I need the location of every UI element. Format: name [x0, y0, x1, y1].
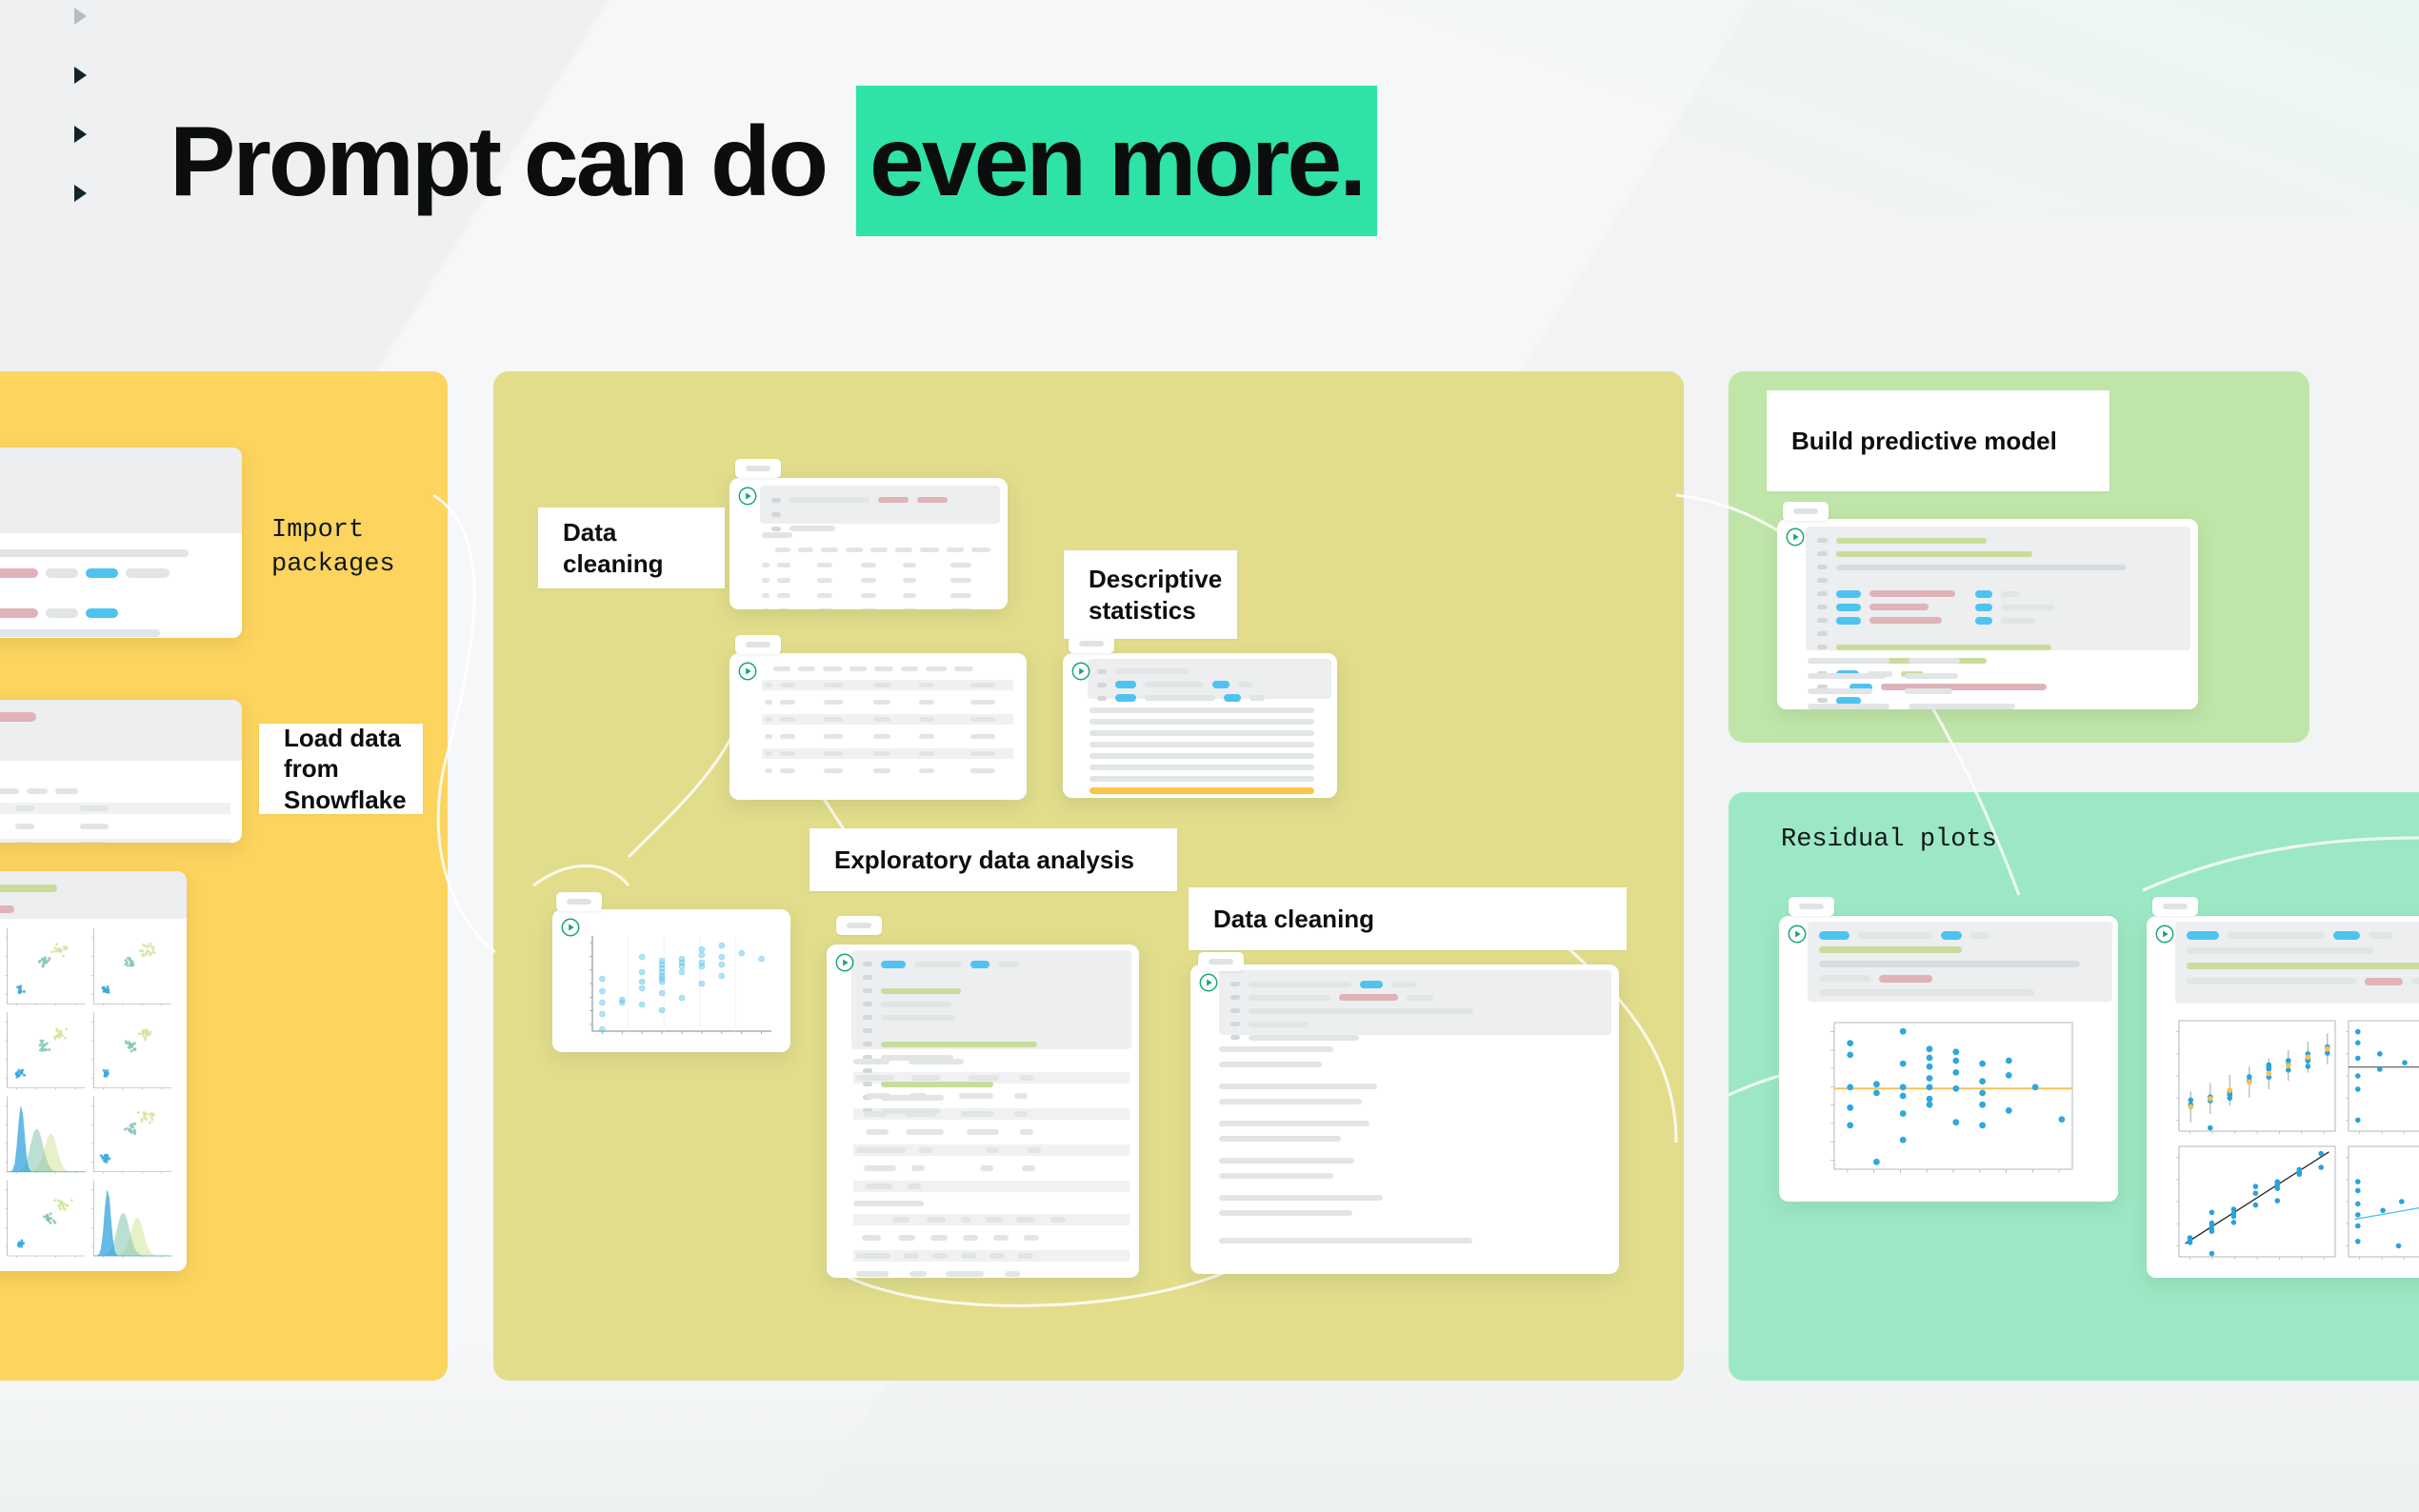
note-exploratory-data-analysis[interactable]: Exploratory data analysis: [810, 828, 1177, 891]
output-line: [1090, 718, 1326, 726]
code-line: [863, 973, 1120, 982]
code-line: [771, 495, 989, 505]
card-residual-scatter[interactable]: [1779, 916, 2118, 1202]
code-line: [1230, 1006, 1600, 1015]
output-line: [1219, 1044, 1608, 1053]
code-line: [863, 960, 1120, 968]
table-row: [853, 1214, 1130, 1225]
code-block: [760, 486, 1000, 524]
output-line: [1090, 741, 1326, 748]
page-title-highlight: even more.: [856, 86, 1377, 236]
table-row: [762, 714, 1013, 725]
code-line: [0, 480, 229, 495]
code-line: [0, 730, 229, 746]
note-label: Descriptive statistics: [1089, 564, 1222, 626]
play-circle-icon[interactable]: [1787, 924, 1808, 945]
note-data-cleaning-2[interactable]: Data cleaning: [1189, 887, 1627, 950]
triangle-right-icon: [74, 8, 87, 25]
output-line: [0, 567, 225, 580]
output-line: [1219, 1208, 1608, 1217]
table-header-row: [0, 786, 230, 796]
residual-chart: [1779, 1002, 2118, 1192]
table-output: [730, 653, 1027, 792]
table-header-row: [762, 546, 996, 554]
code-line: [863, 1013, 1120, 1022]
output-line: [1219, 1171, 1608, 1180]
code-line: [1817, 549, 2179, 558]
code-line: [0, 501, 229, 516]
table-row: [762, 748, 1013, 759]
code-line: [2187, 931, 2419, 940]
output-line: [1090, 752, 1326, 760]
code-line: [1817, 576, 2179, 585]
code-block: [0, 448, 242, 533]
note-descriptive-statistics[interactable]: Descriptive statistics: [1064, 550, 1237, 639]
output-line: [1219, 1097, 1608, 1105]
page-title-plain: Prompt can do: [170, 107, 850, 217]
code-line: [1230, 1020, 1600, 1028]
output-line: [0, 607, 225, 620]
code-line: [1819, 945, 2101, 954]
bullet-marker-column: [74, 8, 103, 244]
play-circle-icon[interactable]: [560, 917, 581, 938]
code-line: [1097, 666, 1322, 676]
table-row: [762, 731, 1013, 742]
output-line: [1808, 656, 2189, 665]
play-circle-icon[interactable]: [1198, 972, 1219, 993]
code-line: [1097, 680, 1322, 689]
code-line: [1819, 931, 2101, 940]
output-line-highlighted: [1090, 786, 1326, 794]
code-line: [2187, 977, 2419, 985]
code-line: [1230, 980, 1600, 988]
card-cleaning-table-1[interactable]: [730, 478, 1008, 609]
table-row: [0, 839, 230, 843]
code-block: [0, 871, 187, 919]
card-pairplot[interactable]: [0, 871, 187, 1271]
card-tab[interactable]: [735, 459, 781, 478]
card-tab[interactable]: [556, 892, 602, 911]
code-line: [0, 902, 173, 917]
card-scatter-plot[interactable]: [552, 909, 790, 1052]
code-line: [863, 1040, 1120, 1048]
pairplot-chart: [0, 919, 187, 1269]
output-area: [0, 533, 242, 638]
note-label: Build predictive model: [1791, 426, 2057, 457]
code-block: [851, 950, 1131, 1049]
triangle-right-icon: [74, 126, 87, 143]
card-tab[interactable]: [1069, 634, 1114, 653]
output-line: [1090, 775, 1326, 783]
output-line: [0, 587, 225, 600]
table-row: [853, 1163, 1130, 1174]
code-line: [2187, 946, 2419, 955]
panel-label-import-packages: Import packages: [271, 514, 395, 582]
card-tab[interactable]: [1789, 897, 1834, 916]
card-data-table-left[interactable]: [0, 700, 242, 843]
card-tab[interactable]: [735, 635, 781, 654]
output-line: [0, 547, 225, 560]
table-row: [762, 576, 996, 585]
output-line: [1090, 706, 1326, 714]
table-row: [762, 697, 1013, 707]
text-output: [1063, 699, 1337, 798]
table-row: [762, 561, 996, 569]
table-row: [762, 680, 1013, 690]
note-build-predictive-model[interactable]: Build predictive model: [1767, 390, 2109, 491]
table-row: [853, 1126, 1130, 1138]
code-line: [1819, 988, 2101, 997]
note-label: Data cleaning: [563, 517, 700, 579]
code-line: [863, 1026, 1120, 1035]
code-line: [0, 881, 173, 896]
note-data-cleaning-1[interactable]: Data cleaning: [538, 507, 725, 588]
play-circle-icon[interactable]: [2154, 924, 2175, 945]
note-label: Exploratory data analysis: [834, 845, 1134, 876]
code-block: [2175, 922, 2419, 1004]
code-line: [1819, 974, 2101, 983]
table-row: [853, 1268, 1130, 1278]
table-output: [730, 524, 1008, 609]
code-line: [1819, 960, 2101, 968]
note-label: Load data from Snowflake: [284, 723, 407, 816]
code-line: [0, 709, 229, 725]
output-line: [0, 627, 225, 638]
card-tab[interactable]: [836, 916, 882, 935]
card-cleaning-notebook[interactable]: [1190, 965, 1619, 1274]
play-circle-icon[interactable]: [1785, 527, 1806, 547]
card-cleaning-table-2[interactable]: [730, 653, 1027, 800]
table-row: [762, 607, 996, 609]
output-line: [1219, 1193, 1608, 1202]
panel-label-residual-plots: Residual plots: [1781, 824, 1997, 858]
note-label: Data cleaning: [1213, 904, 1374, 935]
card-tab[interactable]: [2152, 897, 2198, 916]
code-line: [2187, 962, 2419, 970]
code-line: [1817, 603, 2179, 611]
code-line: [863, 1000, 1120, 1008]
code-line: [1817, 536, 2179, 545]
output-line: [1090, 729, 1326, 737]
card-code-output-top-left[interactable]: [0, 448, 242, 638]
page-title: Prompt can do even more.: [170, 112, 1377, 211]
card-eda-notebook[interactable]: [827, 945, 1139, 1278]
output-line: [853, 1199, 1130, 1207]
play-circle-icon[interactable]: [834, 952, 855, 973]
table-row: [762, 766, 1013, 776]
code-line: [1230, 993, 1600, 1002]
output-line: [1090, 764, 1326, 771]
table-row: [853, 1144, 1130, 1156]
table-header-row: [762, 665, 1013, 673]
table-output: [0, 761, 242, 843]
card-tab[interactable]: [1198, 952, 1244, 971]
table-title: [0, 770, 230, 780]
card-descriptive-stats-output[interactable]: [1063, 653, 1337, 798]
code-line: [771, 509, 989, 519]
triangle-right-icon: [74, 67, 87, 84]
code-line: [0, 459, 229, 474]
output-line: [1219, 1060, 1608, 1068]
table-row: [853, 1181, 1130, 1192]
output-area: [1190, 1035, 1619, 1259]
card-model-code[interactable]: [1777, 519, 2198, 709]
code-block: [0, 700, 242, 761]
note-load-data-from-snowflake[interactable]: Load data from Snowflake: [259, 724, 423, 814]
slide-header: Prompt can do even more.: [0, 0, 2419, 286]
scatter-chart: [552, 909, 790, 1052]
table-row: [0, 803, 230, 814]
triangle-right-icon: [74, 185, 87, 202]
code-block: [1219, 970, 1611, 1035]
card-tab[interactable]: [1783, 502, 1829, 521]
output-line: [1219, 1134, 1608, 1143]
output-line: [1219, 1156, 1608, 1164]
code-block: [1088, 659, 1331, 699]
code-line: [863, 986, 1120, 995]
play-circle-icon[interactable]: [737, 661, 758, 682]
table-row: [853, 1232, 1130, 1243]
table-row: [853, 1250, 1130, 1262]
output-line: [1219, 1119, 1608, 1127]
code-line: [1817, 616, 2179, 625]
code-line: [1817, 589, 2179, 598]
output-line: [1219, 1236, 1608, 1244]
play-circle-icon[interactable]: [1070, 661, 1091, 682]
output-line: [1808, 702, 2189, 709]
table-row: [0, 821, 230, 832]
code-line: [1817, 629, 2179, 638]
output-line: [1219, 1082, 1608, 1090]
card-diagnostics-grid[interactable]: [2147, 916, 2419, 1278]
table-row: [762, 591, 996, 600]
diagnostics-chart: [2147, 1004, 2419, 1270]
table-title: [762, 531, 996, 539]
code-line: [1817, 563, 2179, 571]
output-line: [1808, 671, 2189, 680]
play-circle-icon[interactable]: [737, 486, 758, 507]
code-block: [1808, 922, 2112, 1002]
code-block: [1806, 527, 2190, 650]
